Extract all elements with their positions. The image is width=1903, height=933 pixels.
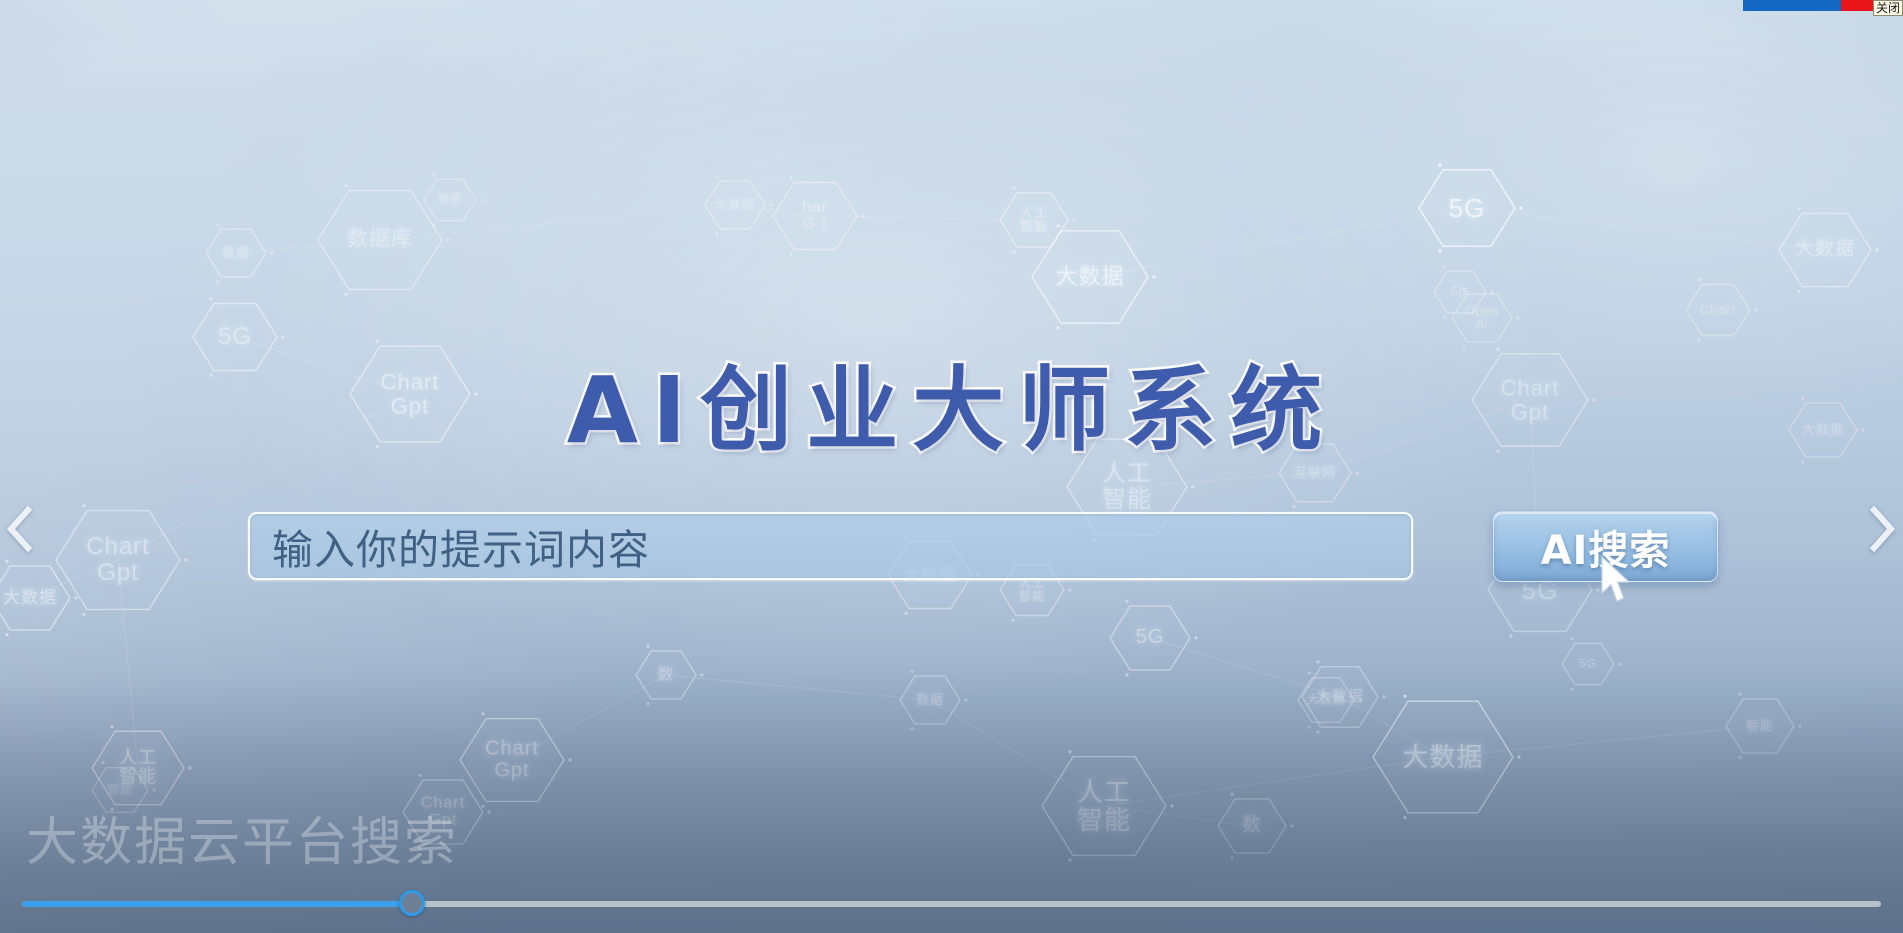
progress-slider-handle[interactable] bbox=[399, 890, 425, 916]
hexagon-node-label: Chart Gpt bbox=[1501, 376, 1560, 424]
hexagon-node: Chart Gpt bbox=[48, 490, 188, 630]
hexagon-node-label: har G t bbox=[802, 199, 828, 234]
hexagon-node: 大数据 bbox=[1294, 651, 1386, 743]
hexagon-node: 数 bbox=[628, 637, 704, 713]
hexagon-node-label: Chart Gpt bbox=[381, 370, 440, 418]
hexagon-node: 人工 智能 bbox=[992, 178, 1076, 262]
hexagon-node-label: 5G bbox=[1579, 658, 1597, 671]
hexagon-node: 数据 bbox=[198, 215, 274, 291]
hexagon-node: 5G bbox=[185, 287, 285, 387]
hexagon-node: 大数据 bbox=[1781, 388, 1865, 472]
hexagon-node-label: 大数据 bbox=[3, 589, 57, 607]
hexagon-node: 5G bbox=[1426, 258, 1494, 326]
hexagon-node: 大数据 bbox=[1771, 196, 1879, 304]
hexagon-node: 智能 bbox=[84, 754, 156, 826]
close-tooltip: 关闭 bbox=[1873, 0, 1903, 16]
hexagon-node-label: 5G bbox=[1136, 627, 1165, 649]
hexagon-node: 大数据 bbox=[1290, 664, 1362, 736]
hexagon-node-label: Chart Gpt bbox=[485, 738, 539, 781]
progress-slider[interactable] bbox=[0, 891, 1903, 915]
hexagon-node: 互联网 bbox=[1271, 429, 1359, 517]
hexagon-node-label: 人工 智能 bbox=[1102, 461, 1152, 513]
hexagon-node-label: 大数据 bbox=[1316, 689, 1364, 705]
bottom-watermark-text: 大数据云平台搜索 bbox=[26, 800, 458, 875]
hexagon-node-label: 人工 智能 bbox=[119, 749, 157, 788]
hexagon-node-label: 数据库 bbox=[347, 229, 413, 252]
hexagon-node: 5G bbox=[1411, 152, 1523, 264]
hexagon-node-label: Chart bbox=[1700, 303, 1737, 317]
hexagon-node: 数 bbox=[1210, 784, 1294, 868]
hexagon-node: 人工 智能 bbox=[1034, 736, 1174, 876]
slide-stage: 数据库大数据5G5GChart GptChart Gpt人工 智能Chart G… bbox=[0, 0, 1903, 933]
hexagon-node: 智能 bbox=[1718, 684, 1802, 768]
hexagon-node-label: 5G bbox=[1449, 194, 1486, 222]
hexagon-node: 大数据 bbox=[697, 167, 773, 243]
search-input-placeholder: 输入你的提示词内容 bbox=[272, 516, 650, 576]
hexagon-node-label: Chart Gpt bbox=[86, 534, 150, 586]
background-network-lines bbox=[0, 0, 1903, 933]
hexagon-node-label: Open Ai bbox=[1465, 305, 1498, 331]
window-top-chrome: 关闭 bbox=[1743, 0, 1903, 16]
hexagon-node-label: 大数据 bbox=[715, 199, 754, 212]
hexagon-node: Chart Gpt bbox=[1464, 334, 1596, 466]
progress-slider-fill bbox=[22, 901, 412, 907]
hexagon-node-label: 数据 bbox=[438, 194, 462, 206]
page-title: AI创业大师系统 bbox=[567, 336, 1336, 469]
hexagon-node: Chart Gpt bbox=[395, 764, 491, 860]
hexagon-node: 大数据 bbox=[1365, 679, 1521, 835]
chevron-right-icon[interactable] bbox=[1859, 500, 1903, 558]
hexagon-node-label: 大数据 bbox=[1306, 694, 1345, 707]
search-input[interactable]: 输入你的提示词内容 bbox=[248, 512, 1413, 580]
background-hexagon-network: 数据库大数据5G5GChart GptChart Gpt人工 智能Chart G… bbox=[0, 0, 1903, 933]
hexagon-node-label: 5G bbox=[218, 324, 252, 350]
hexagon-node-label: 数据 bbox=[916, 693, 944, 707]
hexagon-node: 数据库 bbox=[310, 170, 450, 310]
hexagon-node: 人工 智能 bbox=[84, 714, 192, 822]
hexagon-node: 大数据 bbox=[1024, 211, 1156, 343]
ai-search-button[interactable]: AI搜索 bbox=[1493, 511, 1718, 582]
hexagon-node: har G t bbox=[765, 166, 865, 266]
hexagon-node-label: 智能 bbox=[1746, 719, 1774, 733]
hexagon-node-label: 大数据 bbox=[1055, 265, 1124, 289]
hexagon-node-label: 大数据 bbox=[1795, 240, 1855, 261]
hexagon-node-label: 大数据 bbox=[1402, 743, 1483, 771]
hexagon-node: 5G bbox=[1554, 630, 1622, 698]
hexagon-node-label: 5G bbox=[1451, 286, 1469, 299]
hexagon-node-label: 大数据 bbox=[1802, 423, 1844, 437]
hexagon-node: 5G bbox=[1102, 590, 1198, 686]
background-sheen bbox=[0, 0, 1903, 933]
hexagon-node: 数据 bbox=[416, 166, 484, 234]
page-title-container: AI创业大师系统 bbox=[0, 336, 1903, 469]
hexagon-node-label: 数据 bbox=[222, 246, 250, 260]
hexagon-node-label: 数 bbox=[657, 666, 674, 683]
close-button[interactable] bbox=[1841, 0, 1873, 11]
hexagon-node: 数据 bbox=[892, 662, 968, 738]
hexagon-node-label: 人工 智能 bbox=[1019, 577, 1045, 603]
hexagon-node-label: 人工 智能 bbox=[1077, 778, 1131, 834]
chevron-left-icon[interactable] bbox=[0, 500, 42, 558]
background-vignette bbox=[0, 0, 1903, 933]
hexagon-node-label: 互联网 bbox=[1294, 466, 1336, 480]
hexagon-node-label: 数 bbox=[1242, 816, 1262, 837]
hexagon-node: Chart Gpt bbox=[452, 700, 572, 820]
hexagon-node: 大数据 bbox=[0, 550, 78, 646]
hexagon-node-label: 智能 bbox=[107, 784, 133, 797]
hexagon-node: Chart bbox=[1678, 270, 1758, 350]
hexagon-node-label: Chart Gpt bbox=[421, 795, 465, 830]
hexagon-node: Open Ai bbox=[1444, 280, 1520, 356]
hexagon-node-label: 人工 智能 bbox=[1020, 206, 1048, 234]
hexagon-node: Chart Gpt bbox=[342, 326, 478, 462]
ai-search-button-label: AI搜索 bbox=[1541, 518, 1671, 576]
topbar-blue-strip bbox=[1743, 0, 1841, 11]
